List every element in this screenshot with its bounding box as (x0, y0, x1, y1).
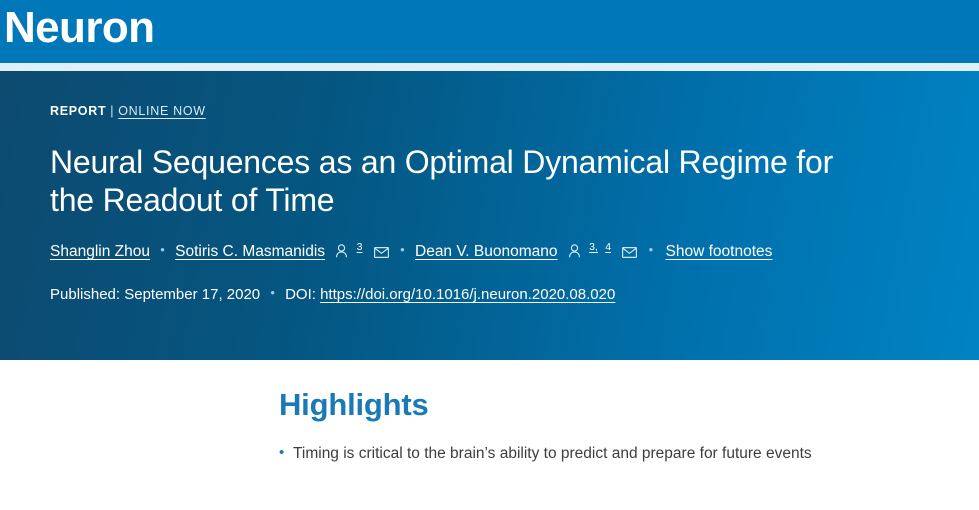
person-icon[interactable] (335, 243, 348, 265)
kicker-separator: | (110, 104, 114, 118)
page-title: Neural Sequences as an Optimal Dynamical… (50, 143, 860, 219)
masthead-divider (0, 63, 979, 71)
article-kicker: REPORT|ONLINE NOW (50, 103, 950, 119)
article-body: ghts nary ords Highlights Timing is crit… (0, 360, 979, 510)
mail-icon[interactable] (374, 243, 389, 265)
online-now-link[interactable]: ONLINE NOW (118, 104, 206, 118)
author-separator-dot: • (649, 239, 654, 261)
person-icon[interactable] (568, 243, 581, 265)
show-footnotes-link[interactable]: Show footnotes (666, 243, 773, 260)
sidebar-item-keywords[interactable]: ords (0, 482, 33, 499)
highlights-heading: Highlights (279, 387, 929, 423)
footnote-ref-link[interactable]: 3, (589, 241, 598, 253)
article-section-nav: ghts nary ords (0, 398, 33, 510)
article-page: Neuron REPORT|ONLINE NOW Neural Sequence… (0, 0, 979, 510)
pubinfo-separator-dot: • (270, 283, 275, 303)
author-list: Shanglin Zhou • Sotiris C. Masmanidis 3 (50, 236, 950, 265)
list-item: Timing is critical to the brain’s abilit… (279, 443, 929, 465)
sidebar-item-summary[interactable]: nary (0, 440, 33, 457)
main-column: Highlights Timing is critical to the bra… (279, 387, 929, 465)
doi-link[interactable]: https://doi.org/10.1016/j.neuron.2020.08… (320, 286, 615, 303)
journal-logo[interactable]: Neuron (4, 2, 154, 54)
footnote-ref-link[interactable]: 4 (605, 241, 611, 253)
mail-icon[interactable] (622, 243, 637, 265)
highlights-list: Timing is critical to the brain’s abilit… (279, 443, 929, 465)
article-type-label: REPORT (50, 104, 106, 118)
published-date: Published: September 17, 2020 (50, 286, 260, 303)
author-link-1[interactable]: Shanglin Zhou (50, 243, 150, 260)
author-link-2[interactable]: Sotiris C. Masmanidis (175, 243, 325, 260)
author-separator-dot: • (160, 239, 165, 261)
hero-content: REPORT|ONLINE NOW Neural Sequences as an… (50, 103, 950, 305)
doi-label: DOI: (285, 286, 316, 303)
author-separator-dot: • (400, 239, 405, 261)
footnote-ref-link[interactable]: 3 (357, 241, 363, 253)
masthead: Neuron (0, 0, 979, 63)
article-hero-banner: REPORT|ONLINE NOW Neural Sequences as an… (0, 71, 979, 360)
sidebar-item-highlights[interactable]: ghts (0, 398, 33, 415)
publication-info: Published: September 17, 2020 • DOI: htt… (50, 283, 950, 305)
author-link-3[interactable]: Dean V. Buonomano (415, 243, 557, 260)
